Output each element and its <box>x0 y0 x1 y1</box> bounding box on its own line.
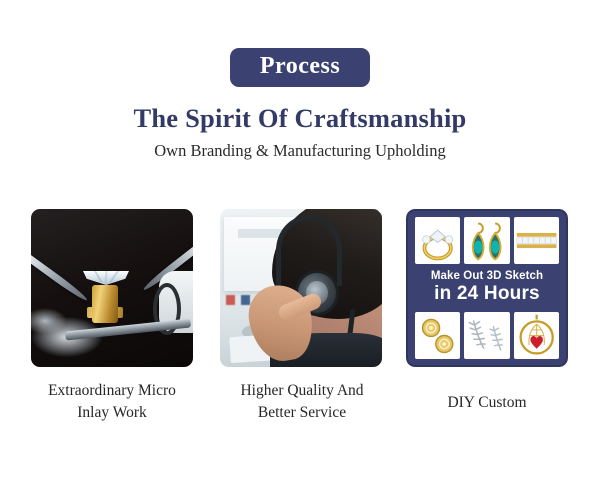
sketch-promo-panel: Make Out 3D Sketch in 24 Hours <box>406 209 568 367</box>
caption-line-2: Inlay Work <box>22 402 202 424</box>
leaf-earrings-icon <box>464 312 509 359</box>
card-micro-inlay[interactable] <box>31 209 193 367</box>
caption-row: Extraordinary Micro Inlay Work Higher Qu… <box>0 380 600 440</box>
caption-line-1: DIY Custom <box>397 392 577 414</box>
heart-pendant-icon <box>514 312 559 359</box>
promo-line-2: in 24 Hours <box>415 283 559 304</box>
process-badge: Process <box>230 48 370 87</box>
page-subtitle: Own Branding & Manufacturing Upholding <box>0 141 600 161</box>
card-customer-service[interactable] <box>220 209 382 367</box>
promo-text-block: Make Out 3D Sketch in 24 Hours <box>415 269 559 306</box>
promo-thumbnails-top <box>415 217 559 264</box>
silver-leaf-earrings-thumb <box>464 312 509 359</box>
process-section: Process The Spirit Of Craftsmanship Own … <box>0 0 600 495</box>
filigree-discs-icon <box>415 312 460 359</box>
caption-line-1: Higher Quality And <box>212 380 392 402</box>
gold-filigree-discs-thumb <box>415 312 460 359</box>
caption-line-2: Better Service <box>212 402 392 424</box>
gold-diamond-ring-thumb <box>415 217 460 264</box>
headset-agent-photo <box>220 209 382 367</box>
teal-drop-earrings-thumb <box>464 217 509 264</box>
promo-thumbnails-bottom <box>415 312 559 359</box>
diamond-facets-shape <box>87 271 125 284</box>
card-diy-custom[interactable]: Make Out 3D Sketch in 24 Hours <box>406 209 568 367</box>
gold-eternity-bands-thumb <box>514 217 559 264</box>
diamond-tweezers-photo <box>31 209 193 367</box>
section-header: Process The Spirit Of Craftsmanship Own … <box>0 0 600 161</box>
caption-customer-service: Higher Quality And Better Service <box>212 380 392 425</box>
earrings-icon <box>464 217 509 264</box>
tweezer-left-icon <box>31 254 89 303</box>
brass-post-shape <box>92 285 118 323</box>
caption-line-1: Extraordinary Micro <box>22 380 202 402</box>
caption-micro-inlay: Extraordinary Micro Inlay Work <box>22 380 202 425</box>
feature-card-row: Make Out 3D Sketch in 24 Hours <box>0 209 600 369</box>
gold-heart-pendant-thumb <box>514 312 559 359</box>
caption-diy-custom: DIY Custom <box>397 392 577 414</box>
page-title: The Spirit Of Craftsmanship <box>0 104 600 133</box>
promo-line-1: Make Out 3D Sketch <box>415 270 559 283</box>
bands-icon <box>514 217 559 264</box>
ring-icon <box>415 217 460 264</box>
